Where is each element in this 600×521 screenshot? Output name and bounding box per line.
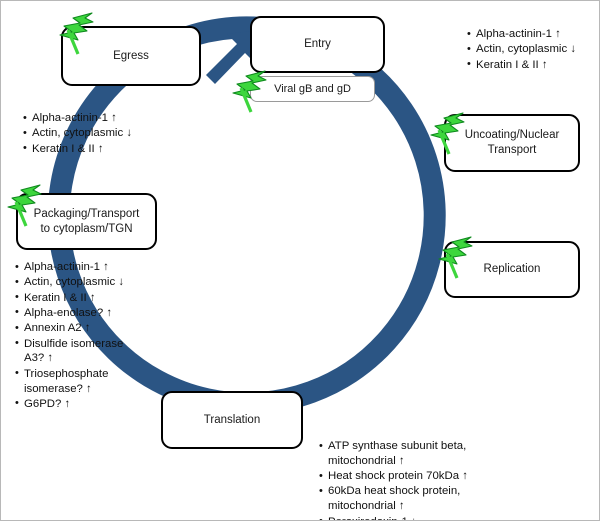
list-item: Alpha-enolase? ↑: [15, 306, 145, 321]
bolt-replication-icon: [435, 233, 475, 286]
notes-packaging: Alpha-actinin-1 ↑Actin, cytoplasmic ↓Ker…: [15, 260, 145, 412]
list-item: Keratin I & II ↑: [467, 58, 600, 73]
stage-viral-gb-gd-label: Viral gB and gD: [274, 83, 351, 95]
notes-translation-list: ATP synthase subunit beta, mitochondrial…: [319, 439, 569, 521]
list-item: Annexin A2 ↑: [15, 321, 145, 336]
bolt-egress-icon: [56, 9, 96, 62]
stage-uncoating-label: Uncoating/Nuclear Transport: [461, 128, 564, 157]
notes-entry: Alpha-actinin-1 ↑Actin, cytoplasmic ↓Ker…: [467, 27, 600, 73]
stage-replication-label: Replication: [480, 262, 545, 277]
list-item: Keratin I & II ↑: [15, 291, 145, 306]
list-item: Disulfide isomerase A3? ↑: [15, 337, 145, 367]
notes-egress: Alpha-actinin-1 ↑Actin, cytoplasmic ↓Ker…: [23, 111, 183, 157]
stage-packaging-label: Packaging/Transport to cytoplasm/TGN: [30, 207, 144, 236]
notes-entry-list: Alpha-actinin-1 ↑Actin, cytoplasmic ↓Ker…: [467, 27, 600, 72]
notes-packaging-list: Alpha-actinin-1 ↑Actin, cytoplasmic ↓Ker…: [15, 260, 145, 412]
list-item: 60kDa heat shock protein, mitochondrial …: [319, 484, 569, 514]
list-item: Actin, cytoplasmic ↓: [467, 42, 600, 57]
stage-egress-label: Egress: [109, 49, 153, 64]
bolt-packaging-icon: [4, 181, 44, 234]
list-item: Alpha-actinin-1 ↑: [15, 260, 145, 275]
list-item: Actin, cytoplasmic ↓: [15, 275, 145, 290]
list-item: Triosephosphate isomerase? ↑: [15, 367, 145, 397]
bolt-uncoating-icon: [427, 109, 467, 162]
list-item: Keratin I & II ↑: [23, 142, 183, 157]
stage-entry[interactable]: Entry: [250, 16, 385, 73]
notes-egress-list: Alpha-actinin-1 ↑Actin, cytoplasmic ↓Ker…: [23, 111, 183, 156]
stage-translation-label: Translation: [200, 413, 264, 428]
list-item: Actin, cytoplasmic ↓: [23, 126, 183, 141]
stage-entry-label: Entry: [300, 37, 335, 52]
stage-translation[interactable]: Translation: [161, 391, 303, 449]
list-item: ATP synthase subunit beta, mitochondrial…: [319, 439, 569, 469]
figure-canvas: Egress Entry Viral gB and gD Uncoating/N…: [0, 0, 600, 521]
list-item: Peroxiredoxin-1 ↓: [319, 515, 569, 521]
bolt-entry-icon: [229, 67, 269, 120]
list-item: G6PD? ↑: [15, 397, 145, 412]
list-item: Heat shock protein 70kDa ↑: [319, 469, 569, 484]
list-item: Alpha-actinin-1 ↑: [467, 27, 600, 42]
list-item: Alpha-actinin-1 ↑: [23, 111, 183, 126]
notes-translation: ATP synthase subunit beta, mitochondrial…: [319, 439, 569, 521]
